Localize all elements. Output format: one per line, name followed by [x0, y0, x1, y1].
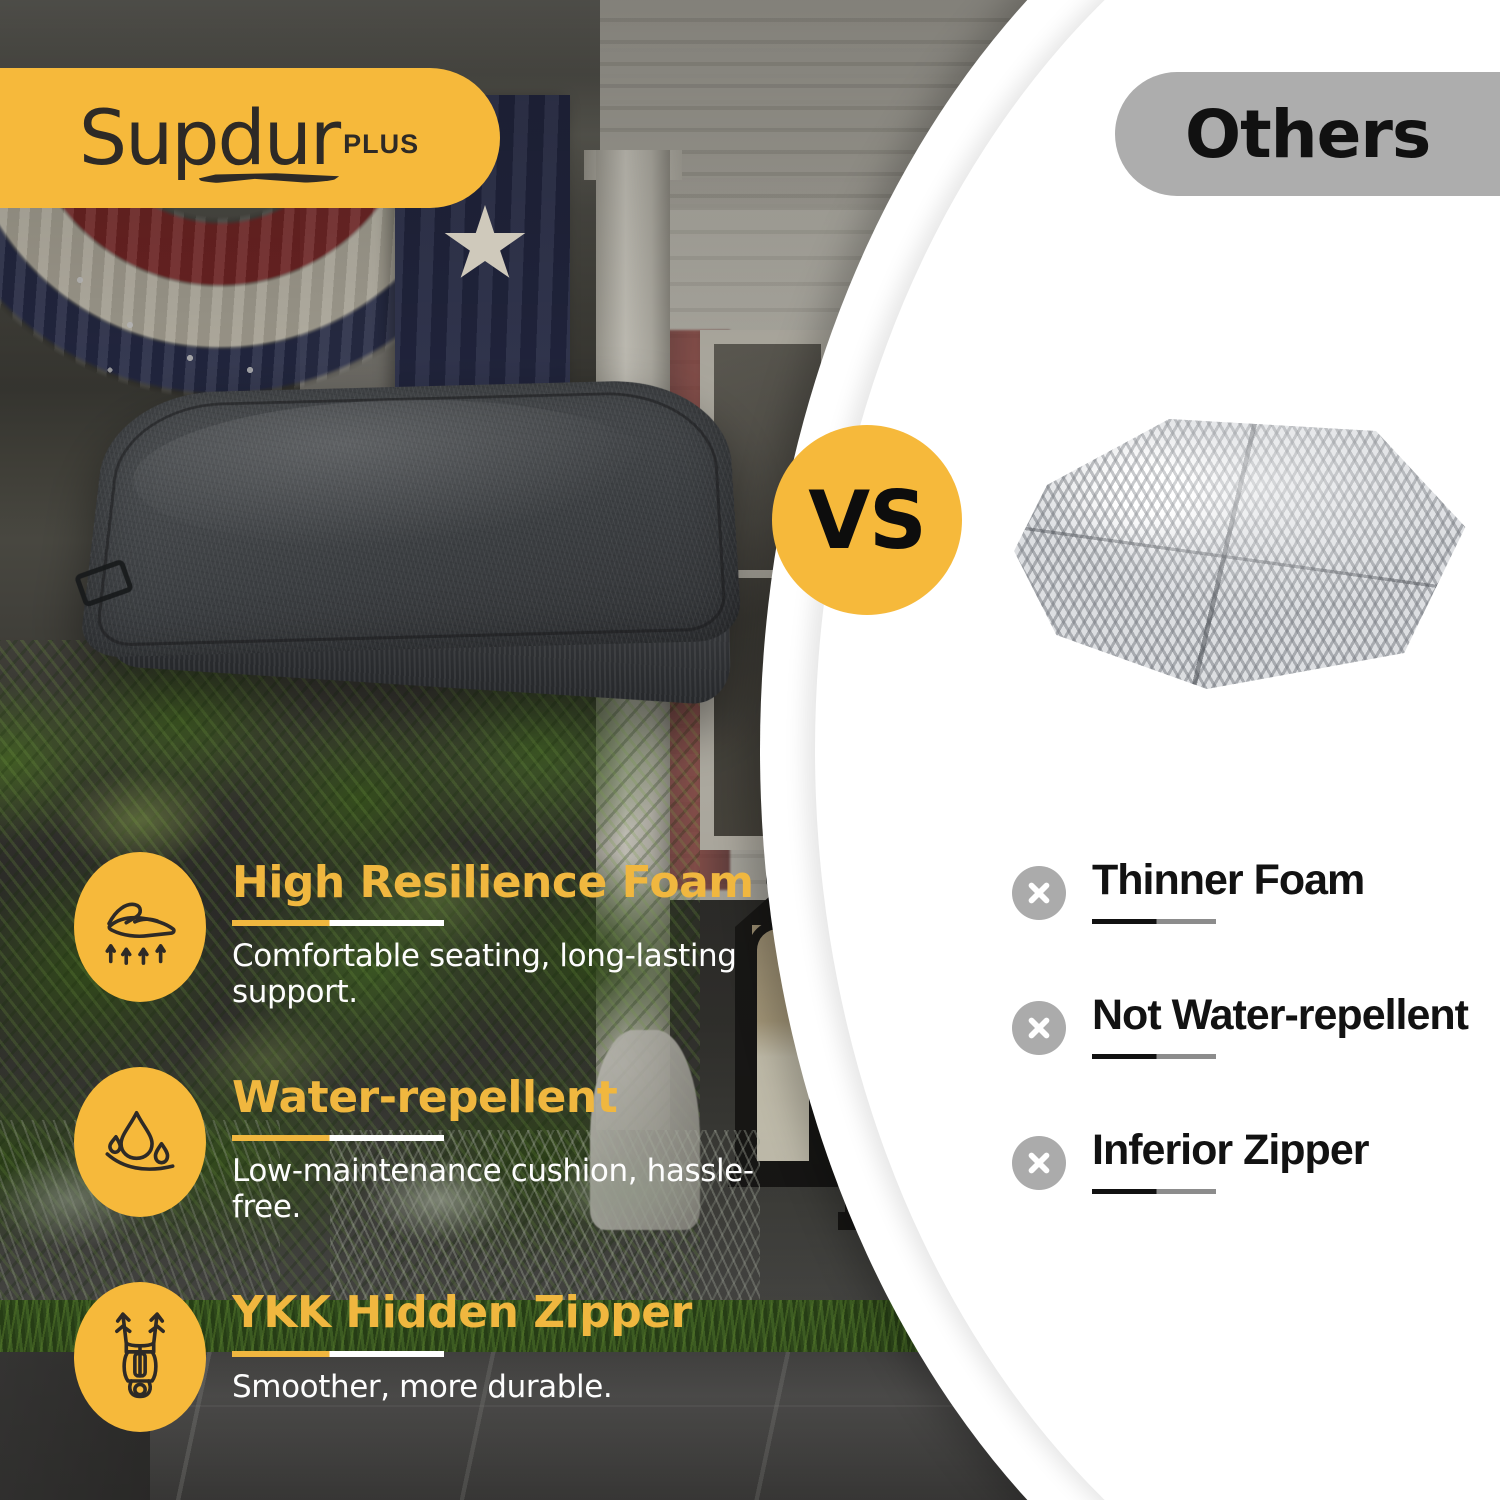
- brand-logo: Supdur PLUS: [79, 104, 419, 172]
- zipper-icon: [74, 1282, 206, 1432]
- competitor-cushion-image: [1000, 395, 1470, 695]
- drawback-title: Not Water-repellent: [1092, 993, 1492, 1038]
- vs-label: VS: [808, 474, 926, 567]
- x-circle-icon: [1012, 866, 1066, 920]
- comparison-infographic: Supdur PLUS Others VS: [0, 0, 1500, 1500]
- x-circle-icon: [1012, 1001, 1066, 1055]
- competitor-cushion-highlight: [1000, 395, 1470, 695]
- hand-supporting-cushion-icon: [74, 852, 206, 1002]
- feature-subtitle: Low-maintenance cushion, hassle-free.: [232, 1153, 794, 1225]
- drawback-item: Not Water-repellent: [1012, 993, 1492, 1059]
- vs-badge: VS: [772, 425, 962, 615]
- drawback-item: Inferior Zipper: [1012, 1128, 1492, 1194]
- feature-title: YKK Hidden Zipper: [232, 1290, 794, 1336]
- feature-divider: [232, 1135, 444, 1141]
- drawback-text: Thinner Foam: [1092, 858, 1492, 924]
- drawback-item: Thinner Foam: [1012, 858, 1492, 924]
- feature-divider: [232, 920, 444, 926]
- drawback-text: Inferior Zipper: [1092, 1128, 1492, 1194]
- drawback-text: Not Water-repellent: [1092, 993, 1492, 1059]
- feature-text: Water-repellent Low-maintenance cushion,…: [232, 1067, 794, 1225]
- feature-subtitle: Comfortable seating, long-lasting suppor…: [232, 938, 794, 1010]
- water-droplet-repellent-icon: [74, 1067, 206, 1217]
- feature-item: Water-repellent Low-maintenance cushion,…: [74, 1067, 794, 1225]
- feature-item: YKK Hidden Zipper Smoother, more durable…: [74, 1282, 794, 1432]
- brand-logo-badge: Supdur PLUS: [0, 68, 500, 208]
- feature-text: YKK Hidden Zipper Smoother, more durable…: [232, 1282, 794, 1404]
- product-cushion-image: [91, 370, 739, 717]
- x-circle-icon: [1012, 1136, 1066, 1190]
- drawback-divider: [1092, 1054, 1216, 1059]
- brand-name: Supdur: [79, 104, 339, 172]
- drawback-divider: [1092, 1189, 1216, 1194]
- product-feature-list: High Resilience Foam Comfortable seating…: [74, 852, 794, 1489]
- brand-suffix: PLUS: [343, 129, 419, 172]
- competitor-drawback-list: Thinner Foam Not Water-repellent: [1012, 858, 1492, 1263]
- others-label: Others: [1185, 96, 1430, 173]
- feature-text: High Resilience Foam Comfortable seating…: [232, 852, 794, 1010]
- feature-divider: [232, 1351, 444, 1357]
- feature-title: High Resilience Foam: [232, 860, 794, 906]
- drawback-title: Inferior Zipper: [1092, 1128, 1492, 1173]
- feature-item: High Resilience Foam Comfortable seating…: [74, 852, 794, 1010]
- others-badge: Others: [1115, 72, 1500, 196]
- drawback-title: Thinner Foam: [1092, 858, 1492, 903]
- feature-title: Water-repellent: [232, 1075, 794, 1121]
- drawback-divider: [1092, 919, 1216, 924]
- feature-subtitle: Smoother, more durable.: [232, 1369, 794, 1405]
